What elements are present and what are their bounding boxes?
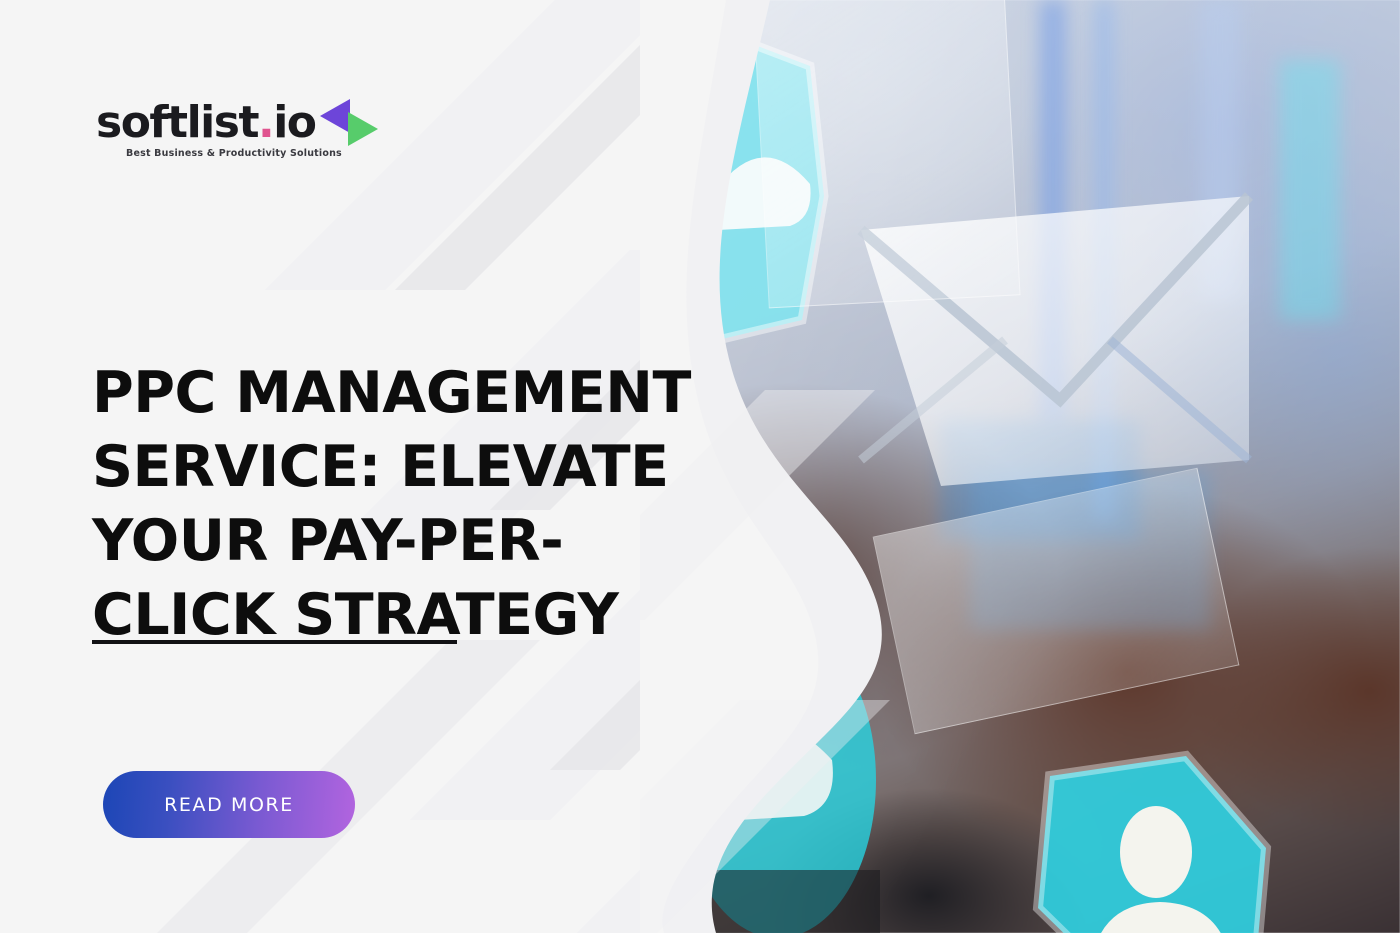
logo-dot: . [258,97,273,148]
promo-banner: softlist.io Best Business & Productivity… [0,0,1400,933]
headline-line-3: YOUR PAY-PER- [92,504,672,578]
logo-wordmark: softlist.io Best Business & Productivity… [96,101,316,145]
content-column: softlist.io Best Business & Productivity… [0,0,700,933]
brand-logo[interactable]: softlist.io Best Business & Productivity… [96,101,386,159]
title-divider [92,640,457,644]
logo-triangles-icon [320,99,386,159]
logo-tagline: Best Business & Productivity Solutions [126,149,342,159]
user-badge [1028,748,1278,933]
page-title: PPC MANAGEMENT SERVICE: ELEVATE YOUR PAY… [92,356,672,652]
logo-text-main: softlist [96,97,258,148]
logo-text-tld: io [273,97,315,148]
read-more-button[interactable]: READ MORE [103,771,355,838]
triangle-left-icon [320,99,350,133]
headline-line-1: PPC MANAGEMENT [92,356,672,430]
headline-line-2: SERVICE: ELEVATE [92,430,672,504]
hero-image [640,0,1400,933]
light-streak [1280,60,1340,320]
triangle-right-icon [348,112,378,146]
